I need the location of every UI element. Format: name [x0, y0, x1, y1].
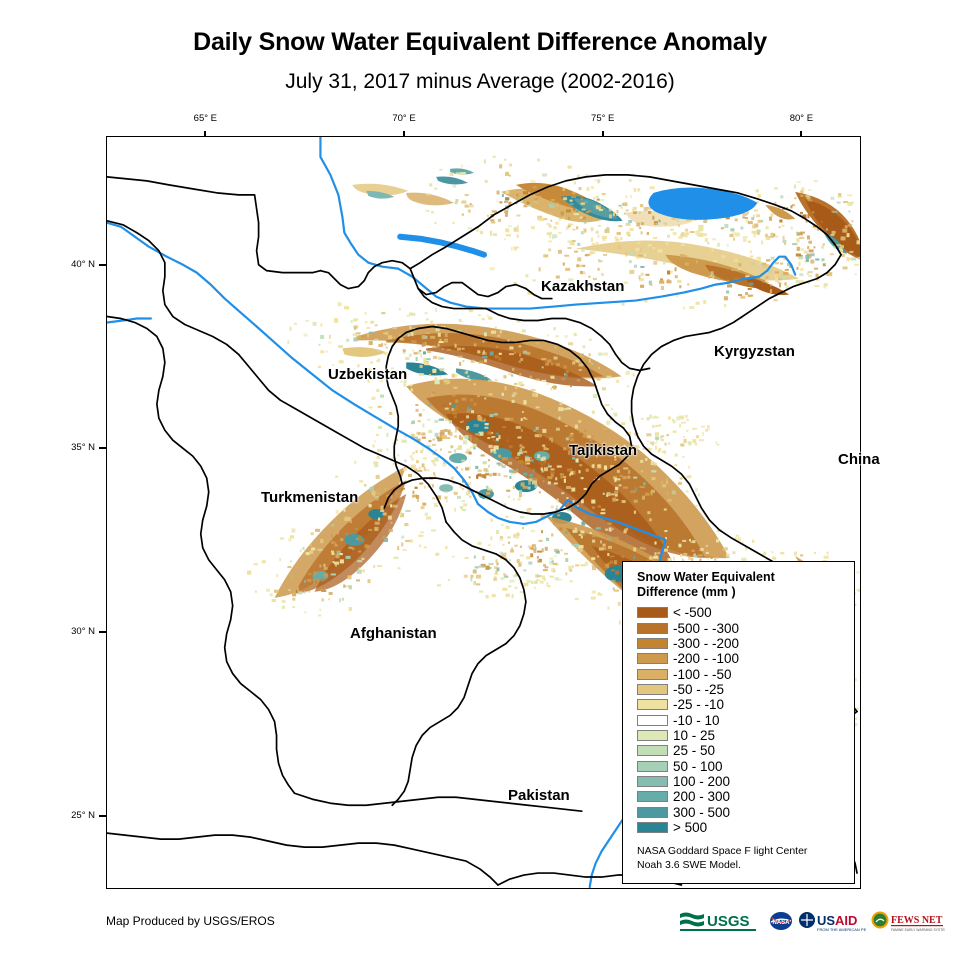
legend-source-note: NASA Goddard Space F light Center Noah 3…: [637, 845, 807, 872]
latitude-tick-label: 25° N: [45, 810, 95, 821]
longitude-tick-label: 70° E: [374, 113, 434, 124]
legend-entry[interactable]: -25 - -10: [637, 697, 854, 712]
legend-label: 300 - 500: [673, 806, 730, 819]
svg-text:AID: AID: [835, 913, 857, 928]
legend-entry-list: < -500-500 - -300-300 - -200-200 - -100-…: [637, 605, 854, 835]
svg-text:FROM THE AMERICAN PEOPLE: FROM THE AMERICAN PEOPLE: [817, 927, 866, 932]
country-label-afghanistan: Afghanistan: [350, 625, 437, 642]
usaid-logo: US AID FROM THE AMERICAN PEOPLE: [798, 910, 866, 932]
legend-swatch: [637, 684, 668, 695]
longitude-tick-label: 80° E: [771, 113, 831, 124]
agency-logo-group: USGS NASA US AID FROM THE AMERICAN PEOPL…: [678, 908, 945, 934]
legend-label: 200 - 300: [673, 790, 730, 803]
svg-text:FAMINE EARLY WARNING SYSTEMS N: FAMINE EARLY WARNING SYSTEMS NETWORK: [891, 928, 945, 932]
svg-text:USGS: USGS: [707, 913, 750, 930]
country-label-uzbekistan: Uzbekistan: [328, 366, 407, 383]
issyk-kul-lake: [648, 188, 757, 220]
legend-swatch: [637, 807, 668, 818]
latitude-tick-label: 35° N: [45, 442, 95, 453]
legend-title-line2: Difference (mm ): [637, 585, 854, 600]
legend-entry[interactable]: < -500: [637, 605, 854, 620]
usgs-logo: USGS: [678, 910, 764, 932]
legend-label: -10 - 10: [673, 714, 720, 727]
legend-swatch: [637, 745, 668, 756]
fewsnet-logo: FEWS NET FAMINE EARLY WARNING SYSTEMS NE…: [871, 910, 945, 932]
legend-swatch: [637, 607, 668, 618]
nasa-logo: NASA: [769, 910, 793, 932]
country-label-china: China: [838, 451, 880, 468]
legend-label: -300 - -200: [673, 637, 739, 650]
longitude-tick-label: 65° E: [175, 113, 235, 124]
legend-entry[interactable]: -500 - -300: [637, 620, 854, 635]
legend-label: 50 - 100: [673, 760, 723, 773]
map-page: Daily Snow Water Equivalent Difference A…: [0, 0, 960, 960]
longitude-tick-label: 75° E: [573, 113, 633, 124]
latitude-tick: [99, 815, 106, 817]
latitude-tick: [99, 264, 106, 266]
legend-label: -200 - -100: [673, 652, 739, 665]
legend-swatch: [637, 653, 668, 664]
legend-entry[interactable]: 50 - 100: [637, 758, 854, 773]
svg-text:FEWS NET: FEWS NET: [891, 915, 943, 926]
svg-text:NASA: NASA: [772, 920, 790, 926]
legend-entry[interactable]: 25 - 50: [637, 743, 854, 758]
legend-label: > 500: [673, 821, 707, 834]
legend-panel[interactable]: Snow Water Equivalent Difference (mm ) <…: [622, 561, 855, 884]
legend-swatch: [637, 761, 668, 772]
legend-swatch: [637, 699, 668, 710]
legend-label: 10 - 25: [673, 729, 715, 742]
legend-label: 100 - 200: [673, 775, 730, 788]
legend-entry[interactable]: -200 - -100: [637, 651, 854, 666]
latitude-tick-label: 30° N: [45, 626, 95, 637]
page-title: Daily Snow Water Equivalent Difference A…: [0, 28, 960, 57]
latitude-tick: [99, 631, 106, 633]
legend-label: -25 - -10: [673, 698, 724, 711]
svg-text:US: US: [817, 913, 835, 928]
legend-entry[interactable]: -50 - -25: [637, 682, 854, 697]
legend-entry[interactable]: -300 - -200: [637, 636, 854, 651]
legend-entry[interactable]: 10 - 25: [637, 728, 854, 743]
legend-title-line1: Snow Water Equivalent: [637, 570, 854, 585]
legend-source-line1: NASA Goddard Space F light Center: [637, 845, 807, 859]
legend-swatch: [637, 822, 668, 833]
legend-label: 25 - 50: [673, 744, 715, 757]
legend-source-line2: Noah 3.6 SWE Model.: [637, 859, 807, 873]
legend-entry[interactable]: 300 - 500: [637, 804, 854, 819]
legend-entry[interactable]: > 500: [637, 820, 854, 835]
legend-entry[interactable]: 200 - 300: [637, 789, 854, 804]
legend-swatch: [637, 730, 668, 741]
legend-swatch: [637, 669, 668, 680]
legend-label: -100 - -50: [673, 668, 732, 681]
legend-entry[interactable]: -100 - -50: [637, 666, 854, 681]
country-label-pakistan: Pakistan: [508, 787, 570, 804]
legend-swatch: [637, 638, 668, 649]
latitude-tick-label: 40° N: [45, 259, 95, 270]
country-label-turkmenistan: Turkmenistan: [261, 489, 358, 506]
legend-entry[interactable]: 100 - 200: [637, 774, 854, 789]
country-label-tajikistan: Tajikistan: [569, 442, 637, 459]
legend-entry[interactable]: -10 - 10: [637, 712, 854, 727]
legend-swatch: [637, 623, 668, 634]
footer-credit: Map Produced by USGS/EROS: [106, 914, 275, 928]
page-subtitle: July 31, 2017 minus Average (2002-2016): [0, 70, 960, 94]
legend-label: < -500: [673, 606, 712, 619]
legend-swatch: [637, 715, 668, 726]
legend-swatch: [637, 791, 668, 802]
country-label-kyrgyzstan: Kyrgyzstan: [714, 343, 795, 360]
legend-label: -500 - -300: [673, 622, 739, 635]
legend-title: Snow Water Equivalent Difference (mm ): [637, 570, 854, 600]
legend-label: -50 - -25: [673, 683, 724, 696]
country-label-kazakhstan: Kazakhstan: [541, 278, 624, 295]
latitude-tick: [99, 447, 106, 449]
legend-swatch: [637, 776, 668, 787]
